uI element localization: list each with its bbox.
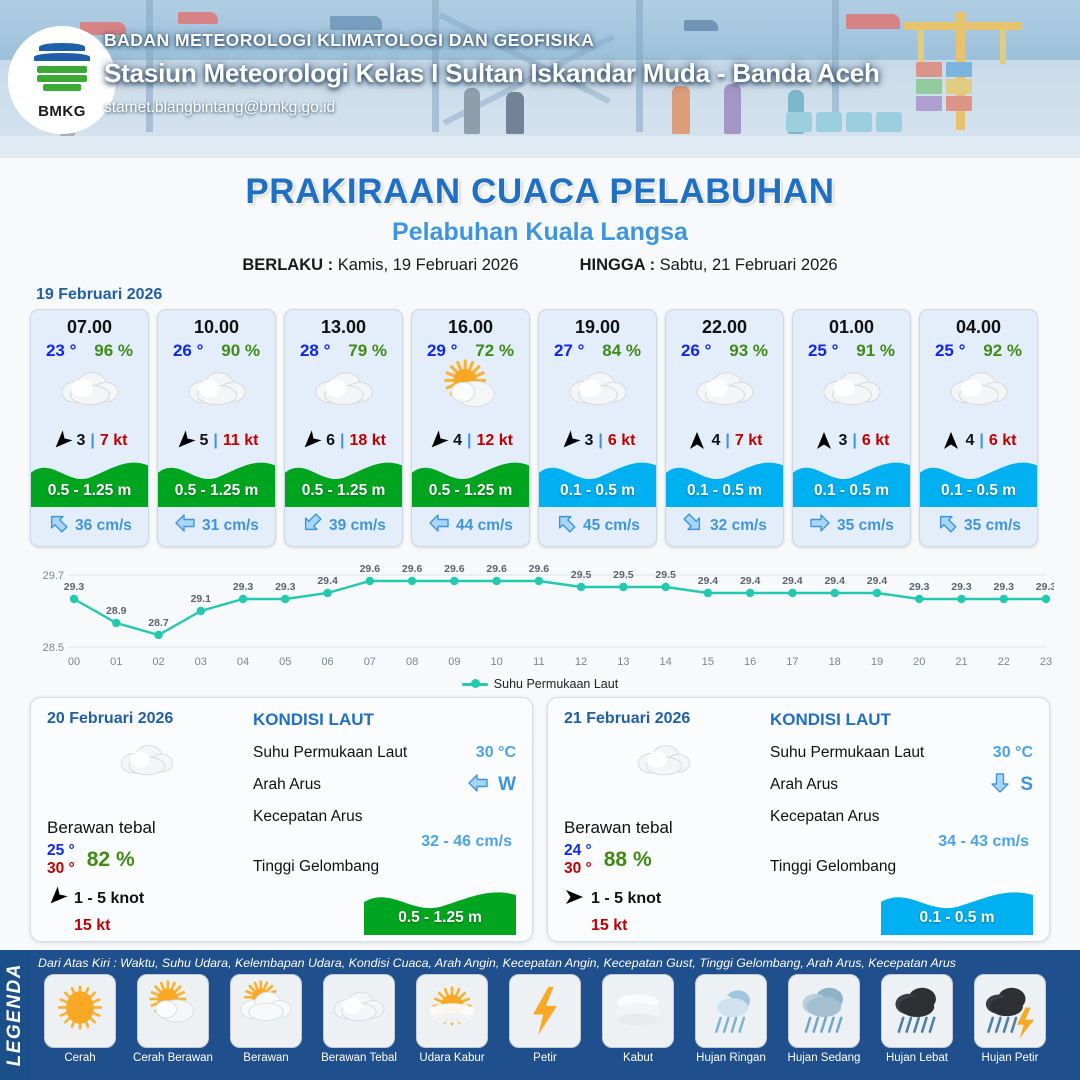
svg-text:12: 12: [575, 656, 587, 668]
current-speed-value: 34 - 43 cm/s: [770, 833, 1033, 851]
bmkg-logo-text: BMKG: [38, 103, 86, 120]
wave-height: 0.1 - 0.5 m: [539, 482, 656, 500]
page-subtitle: Pelabuhan Kuala Langsa: [0, 218, 1080, 247]
svg-text:16: 16: [744, 656, 756, 668]
card-temp-humidity-row: 27 ° 84 %: [539, 339, 656, 361]
wind-gust: 7 kt: [735, 432, 763, 450]
card-humidity: 91 %: [856, 341, 895, 361]
legend-item: Petir: [501, 974, 589, 1064]
card-temp-humidity-row: 25 ° 91 %: [793, 339, 910, 361]
card-current-row: 35 cm/s: [920, 507, 1037, 546]
current-speed: 35 cm/s: [837, 517, 894, 535]
legend-side-text: LEGENDA: [4, 963, 26, 1066]
card-temp-humidity-row: 29 ° 72 %: [412, 339, 529, 361]
current-direction-arrow-icon: [989, 772, 1011, 799]
svg-text:08: 08: [406, 656, 418, 668]
legend-icon-cerah: [44, 974, 116, 1048]
svg-text:29.3: 29.3: [64, 581, 85, 593]
svg-text:19: 19: [871, 656, 883, 668]
svg-text:22: 22: [998, 656, 1010, 668]
svg-text:28.7: 28.7: [148, 617, 169, 629]
weather-icon-cerah-berawan: [412, 363, 529, 425]
forecast-card: 13.00 28 ° 79 % 6 | 18 kt 0.5 - 1.25 m 3…: [284, 309, 403, 547]
summary-sea-conditions: KONDISI LAUT Suhu Permukaan Laut 30 °C A…: [764, 710, 1033, 927]
wave-height-label: Tinggi Gelombang: [253, 858, 379, 876]
card-temp-humidity-row: 26 ° 93 %: [666, 339, 783, 361]
summary-condition: Berawan tebal: [47, 818, 247, 838]
weather-icon-berawan-tebal: [564, 734, 764, 796]
wind-gust: 7 kt: [100, 432, 128, 450]
wind-gust: 18 kt: [349, 432, 385, 450]
contact-email: stamet.blangbintang@bmkg.go.id: [104, 99, 880, 117]
forecast-card: 07.00 23 ° 96 % 3 | 7 kt 0.5 - 1.25 m 36…: [30, 309, 149, 547]
wind-speed: 4: [453, 432, 462, 450]
weather-icon-berawan-tebal: [31, 363, 148, 425]
legend-item-label: Berawan Tebal: [321, 1052, 397, 1064]
current-direction-row: Arah Arus W: [253, 769, 516, 801]
current-speed: 44 cm/s: [456, 517, 513, 535]
daily-summary-panels: 20 Februari 2026 Berawan tebal 25 ° 30 °…: [0, 691, 1080, 942]
current-direction-arrow-icon: [428, 512, 450, 539]
sst-label: Suhu Permukaan Laut: [253, 744, 407, 762]
wind-direction-arrow-icon: [47, 887, 67, 912]
sst-row: Suhu Permukaan Laut 30 °C: [253, 737, 516, 769]
chart-legend: Suhu Permukaan Laut: [0, 677, 1080, 691]
sea-conditions-header: KONDISI LAUT: [253, 710, 516, 730]
organization-name: BADAN METEOROLOGI KLIMATOLOGI DAN GEOFIS…: [104, 30, 880, 51]
svg-text:15: 15: [702, 656, 714, 668]
legend-icon-hujan-sedang: [788, 974, 860, 1048]
summary-sea-conditions: KONDISI LAUT Suhu Permukaan Laut 30 °C A…: [247, 710, 516, 927]
weather-icon-berawan-tebal: [539, 363, 656, 425]
summary-condition: Berawan tebal: [564, 818, 764, 838]
svg-text:17: 17: [786, 656, 798, 668]
card-current-row: 36 cm/s: [31, 507, 148, 546]
wave-height-row: Tinggi Gelombang: [253, 851, 516, 883]
svg-text:06: 06: [321, 656, 333, 668]
current-direction-value: S: [989, 772, 1033, 799]
current-direction-arrow-icon: [682, 512, 704, 539]
page-title: PRAKIRAAN CUACA PELABUHAN: [0, 172, 1080, 212]
wind-direction-arrow-icon: [301, 431, 321, 451]
card-time: 16.00: [412, 310, 529, 339]
wind-direction-arrow-icon: [52, 431, 72, 451]
forecast-card: 19.00 27 ° 84 % 3 | 6 kt 0.1 - 0.5 m 45 …: [538, 309, 657, 547]
card-humidity: 96 %: [94, 341, 133, 361]
card-current-row: 35 cm/s: [793, 507, 910, 546]
card-current-row: 44 cm/s: [412, 507, 529, 546]
forecast-card: 10.00 26 ° 90 % 5 | 11 kt 0.5 - 1.25 m 3…: [157, 309, 276, 547]
valid-until-label: HINGGA :: [580, 256, 655, 274]
legend-icon-berawan-tebal: [323, 974, 395, 1048]
summary-wave-band: 0.1 - 0.5 m: [881, 885, 1033, 935]
svg-text:29.4: 29.4: [824, 575, 845, 587]
card-temperature: 28 °: [300, 341, 330, 361]
svg-text:29.6: 29.6: [402, 563, 423, 575]
current-direction-row: Arah Arus S: [770, 769, 1033, 801]
legend-icon-kabut: [602, 974, 674, 1048]
svg-text:28.9: 28.9: [106, 605, 127, 617]
svg-text:29.6: 29.6: [486, 563, 507, 575]
summary-temperature-block: 25 ° 30 ° 82 %: [47, 842, 247, 878]
summary-date: 20 Februari 2026: [47, 710, 247, 728]
forecast-day-label: 19 Februari 2026: [36, 286, 1080, 304]
wind-separator: |: [598, 432, 602, 450]
svg-text:29.5: 29.5: [613, 569, 634, 581]
wind-separator: |: [467, 432, 471, 450]
wind-direction-arrow-icon: [560, 431, 580, 451]
wind-speed: 3: [839, 432, 848, 450]
weather-icon-berawan-tebal: [285, 363, 402, 425]
card-time: 04.00: [920, 310, 1037, 339]
svg-text:29.4: 29.4: [867, 575, 888, 587]
card-wind-row: 3 | 7 kt: [31, 425, 148, 455]
svg-text:01: 01: [110, 656, 122, 668]
svg-text:07: 07: [364, 656, 376, 668]
svg-text:02: 02: [152, 656, 164, 668]
svg-text:29.6: 29.6: [444, 563, 465, 575]
card-temp-humidity-row: 23 ° 96 %: [31, 339, 148, 361]
svg-text:10: 10: [490, 656, 502, 668]
summary-wind-row: 1 - 5 knot: [564, 887, 764, 912]
card-humidity: 84 %: [602, 341, 641, 361]
wind-speed: 4: [966, 432, 975, 450]
current-speed: 32 cm/s: [710, 517, 767, 535]
legend-item-label: Petir: [533, 1052, 557, 1064]
svg-text:03: 03: [195, 656, 207, 668]
forecast-card: 16.00 29 ° 72 % 4 | 12 kt 0.5 - 1.25 m 4…: [411, 309, 530, 547]
current-direction-arrow-icon: [936, 512, 958, 539]
current-direction-label: Arah Arus: [770, 776, 838, 794]
title-block: PRAKIRAAN CUACA PELABUHAN Pelabuhan Kual…: [0, 158, 1080, 275]
legend-item-list: Cerah Cerah Berawan Berawan Berawan Teba…: [36, 974, 1074, 1064]
current-speed-label: Kecepatan Arus: [253, 808, 362, 826]
forecast-card-strip: 07.00 23 ° 96 % 3 | 7 kt 0.5 - 1.25 m 36…: [0, 309, 1080, 547]
legend-icon-hujan-lebat: [881, 974, 953, 1048]
legend-icon-berawan: [230, 974, 302, 1048]
card-temperature: 26 °: [681, 341, 711, 361]
current-speed-value: 32 - 46 cm/s: [253, 833, 516, 851]
summary-left: 20 Februari 2026 Berawan tebal 25 ° 30 °…: [47, 710, 247, 927]
card-time: 19.00: [539, 310, 656, 339]
legend-item-label: Hujan Sedang: [788, 1052, 861, 1064]
sst-value: 30 °C: [476, 744, 516, 762]
current-speed: 36 cm/s: [75, 517, 132, 535]
summary-wind-row: 1 - 5 knot: [47, 887, 247, 912]
legend-note: Dari Atas Kiri : Waktu, Suhu Udara, Kele…: [36, 954, 1074, 974]
wind-gust: 6 kt: [989, 432, 1017, 450]
card-wind-row: 3 | 6 kt: [793, 425, 910, 455]
current-speed: 39 cm/s: [329, 517, 386, 535]
card-wave-band: 0.1 - 0.5 m: [793, 455, 910, 507]
card-wave-band: 0.5 - 1.25 m: [31, 455, 148, 507]
svg-text:29.6: 29.6: [360, 563, 381, 575]
summary-temperature-block: 24 ° 30 ° 88 %: [564, 842, 764, 878]
sst-label: Suhu Permukaan Laut: [770, 744, 924, 762]
svg-text:14: 14: [660, 656, 672, 668]
summary-temp-max: 30 °: [564, 860, 592, 878]
wind-separator: |: [213, 432, 217, 450]
summary-left: 21 Februari 2026 Berawan tebal 24 ° 30 °…: [564, 710, 764, 927]
summary-wind-range: 1 - 5 knot: [591, 890, 661, 908]
current-direction-arrow-icon: [301, 512, 323, 539]
card-wind-row: 4 | 7 kt: [666, 425, 783, 455]
legend-item: Hujan Ringan: [687, 974, 775, 1064]
svg-text:29.3: 29.3: [994, 581, 1015, 593]
card-wave-band: 0.5 - 1.25 m: [285, 455, 402, 507]
card-wave-band: 0.1 - 0.5 m: [920, 455, 1037, 507]
sst-chart: 29.728.529.328.928.729.129.329.329.429.6…: [26, 561, 1054, 673]
card-humidity: 79 %: [348, 341, 387, 361]
svg-text:29.5: 29.5: [655, 569, 676, 581]
card-wind-row: 5 | 11 kt: [158, 425, 275, 455]
legend-item-label: Cerah Berawan: [133, 1052, 213, 1064]
wind-separator: |: [852, 432, 856, 450]
card-time: 07.00: [31, 310, 148, 339]
legend-item: Hujan Petir: [966, 974, 1054, 1064]
wind-direction-arrow-icon: [814, 431, 834, 451]
current-speed-row: Kecepatan Arus: [253, 801, 516, 833]
card-humidity: 72 %: [475, 341, 514, 361]
summary-temp-min: 25 °: [47, 842, 75, 860]
valid-until-value: Sabtu, 21 Februari 2026: [660, 256, 838, 274]
svg-text:18: 18: [829, 656, 841, 668]
summary-humidity: 88 %: [604, 848, 652, 872]
summary-wave-value: 0.1 - 0.5 m: [881, 909, 1033, 927]
svg-text:29.3: 29.3: [909, 581, 930, 593]
current-speed: 45 cm/s: [583, 517, 640, 535]
wind-speed: 5: [200, 432, 209, 450]
card-wave-band: 0.5 - 1.25 m: [158, 455, 275, 507]
legend-side-label: LEGENDA: [0, 950, 30, 1080]
current-direction-label: Arah Arus: [253, 776, 321, 794]
wind-direction-arrow-icon: [175, 431, 195, 451]
card-time: 10.00: [158, 310, 275, 339]
card-humidity: 93 %: [729, 341, 768, 361]
legend-body: Dari Atas Kiri : Waktu, Suhu Udara, Kele…: [30, 950, 1080, 1080]
wave-height: 0.5 - 1.25 m: [31, 482, 148, 500]
card-humidity: 92 %: [983, 341, 1022, 361]
svg-text:29.5: 29.5: [571, 569, 592, 581]
legend-item: Berawan: [222, 974, 310, 1064]
daily-summary-card: 20 Februari 2026 Berawan tebal 25 ° 30 °…: [30, 697, 533, 942]
wave-height: 0.1 - 0.5 m: [920, 482, 1037, 500]
legend-icon-hujan-ringan: [695, 974, 767, 1048]
card-current-row: 32 cm/s: [666, 507, 783, 546]
header-text-block: BADAN METEOROLOGI KLIMATOLOGI DAN GEOFIS…: [104, 30, 880, 117]
card-temp-humidity-row: 25 ° 92 %: [920, 339, 1037, 361]
summary-humidity: 82 %: [87, 848, 135, 872]
sea-conditions-header: KONDISI LAUT: [770, 710, 1033, 730]
current-direction-letter: W: [498, 774, 516, 796]
legend-item-label: Udara Kabur: [419, 1052, 484, 1064]
svg-text:29.3: 29.3: [233, 581, 254, 593]
svg-text:29.1: 29.1: [191, 593, 212, 605]
svg-text:11: 11: [533, 656, 544, 668]
wind-gust: 11 kt: [223, 432, 259, 450]
daily-summary-card: 21 Februari 2026 Berawan tebal 24 ° 30 °…: [547, 697, 1050, 942]
card-temperature: 29 °: [427, 341, 457, 361]
current-speed-label: Kecepatan Arus: [770, 808, 879, 826]
summary-temp-range: 24 ° 30 °: [564, 842, 592, 878]
forecast-card: 22.00 26 ° 93 % 4 | 7 kt 0.1 - 0.5 m 32 …: [665, 309, 784, 547]
svg-text:29.4: 29.4: [740, 575, 761, 587]
svg-text:09: 09: [448, 656, 460, 668]
wave-height: 0.1 - 0.5 m: [666, 482, 783, 500]
legend-item-label: Cerah: [64, 1052, 95, 1064]
bmkg-logo-mark: [31, 41, 93, 101]
card-current-row: 45 cm/s: [539, 507, 656, 546]
weather-icon-berawan-tebal: [47, 734, 247, 796]
wind-direction-arrow-icon: [428, 431, 448, 451]
svg-text:21: 21: [955, 656, 967, 668]
legend-item-label: Hujan Lebat: [886, 1052, 948, 1064]
svg-text:05: 05: [279, 656, 291, 668]
card-temp-humidity-row: 28 ° 79 %: [285, 339, 402, 361]
wind-speed: 6: [326, 432, 335, 450]
wind-speed: 4: [712, 432, 721, 450]
wind-separator: |: [90, 432, 94, 450]
card-current-row: 31 cm/s: [158, 507, 275, 546]
wind-separator: |: [979, 432, 983, 450]
wind-gust: 6 kt: [862, 432, 890, 450]
summary-temp-max: 30 °: [47, 860, 75, 878]
card-temp-humidity-row: 26 ° 90 %: [158, 339, 275, 361]
wind-direction-arrow-icon: [564, 887, 584, 912]
wind-separator: |: [340, 432, 344, 450]
card-time: 22.00: [666, 310, 783, 339]
valid-from-label: BERLAKU :: [242, 256, 333, 274]
header-banner: BMKG BADAN METEOROLOGI KLIMATOLOGI DAN G…: [0, 0, 1080, 158]
current-direction-value: W: [467, 772, 516, 799]
card-current-row: 39 cm/s: [285, 507, 402, 546]
current-direction-arrow-icon: [174, 512, 196, 539]
summary-wind-range: 1 - 5 knot: [74, 890, 144, 908]
current-speed: 31 cm/s: [202, 517, 259, 535]
current-direction-arrow-icon: [47, 512, 69, 539]
sst-value: 30 °C: [993, 744, 1033, 762]
current-direction-arrow-icon: [555, 512, 577, 539]
wind-direction-arrow-icon: [941, 431, 961, 451]
forecast-card: 01.00 25 ° 91 % 3 | 6 kt 0.1 - 0.5 m 35 …: [792, 309, 911, 547]
forecast-card: 04.00 25 ° 92 % 4 | 6 kt 0.1 - 0.5 m 35 …: [919, 309, 1038, 547]
sst-chart-svg: 29.728.529.328.928.729.129.329.329.429.6…: [26, 561, 1054, 673]
weather-icon-berawan-tebal: [666, 363, 783, 425]
svg-text:04: 04: [237, 656, 249, 668]
sst-row: Suhu Permukaan Laut 30 °C: [770, 737, 1033, 769]
card-wind-row: 4 | 6 kt: [920, 425, 1037, 455]
legend-icon-udara-kabur: [416, 974, 488, 1048]
legend-item: Berawan Tebal: [315, 974, 403, 1064]
wave-height: 0.5 - 1.25 m: [158, 482, 275, 500]
current-direction-arrow-icon: [809, 512, 831, 539]
valid-from-value: Kamis, 19 Februari 2026: [338, 256, 519, 274]
chart-legend-label: Suhu Permukaan Laut: [494, 677, 618, 691]
card-wave-band: 0.1 - 0.5 m: [666, 455, 783, 507]
svg-text:00: 00: [68, 656, 80, 668]
svg-text:29.7: 29.7: [43, 570, 64, 582]
card-time: 13.00: [285, 310, 402, 339]
legend-item: Kabut: [594, 974, 682, 1064]
legend-item: Udara Kabur: [408, 974, 496, 1064]
current-speed-row: Kecepatan Arus: [770, 801, 1033, 833]
card-temperature: 25 °: [808, 341, 838, 361]
svg-text:29.4: 29.4: [782, 575, 803, 587]
bmkg-logo: BMKG: [8, 26, 116, 134]
legend-item: Hujan Lebat: [873, 974, 961, 1064]
chart-legend-marker-icon: [462, 683, 488, 686]
summary-temp-range: 25 ° 30 °: [47, 842, 75, 878]
summary-gust: 15 kt: [591, 917, 764, 935]
card-temperature: 27 °: [554, 341, 584, 361]
wave-height: 0.5 - 1.25 m: [285, 482, 402, 500]
wind-direction-arrow-icon: [687, 431, 707, 451]
legend-bar: LEGENDA Dari Atas Kiri : Waktu, Suhu Uda…: [0, 950, 1080, 1080]
card-temperature: 23 °: [46, 341, 76, 361]
wind-separator: |: [725, 432, 729, 450]
current-direction-letter: S: [1020, 774, 1033, 796]
svg-text:29.4: 29.4: [698, 575, 719, 587]
validity-row: BERLAKU : Kamis, 19 Februari 2026 HINGGA…: [0, 256, 1080, 275]
legend-item-label: Hujan Petir: [982, 1052, 1039, 1064]
svg-text:20: 20: [913, 656, 925, 668]
legend-item-label: Berawan: [243, 1052, 288, 1064]
card-wave-band: 0.1 - 0.5 m: [539, 455, 656, 507]
card-humidity: 90 %: [221, 341, 260, 361]
weather-icon-berawan-tebal: [793, 363, 910, 425]
legend-item-label: Kabut: [623, 1052, 653, 1064]
weather-icon-berawan-tebal: [158, 363, 275, 425]
legend-icon-petir: [509, 974, 581, 1048]
legend-icon-hujan-petir: [974, 974, 1046, 1048]
legend-item-label: Hujan Ringan: [696, 1052, 766, 1064]
wave-height-label: Tinggi Gelombang: [770, 858, 896, 876]
card-temperature: 26 °: [173, 341, 203, 361]
card-wind-row: 4 | 12 kt: [412, 425, 529, 455]
wind-gust: 6 kt: [608, 432, 636, 450]
weather-icon-berawan-tebal: [920, 363, 1037, 425]
svg-text:29.3: 29.3: [275, 581, 296, 593]
svg-text:29.3: 29.3: [951, 581, 972, 593]
card-wave-band: 0.5 - 1.25 m: [412, 455, 529, 507]
legend-item: Cerah: [36, 974, 124, 1064]
current-speed: 35 cm/s: [964, 517, 1021, 535]
summary-gust: 15 kt: [74, 917, 247, 935]
wave-height: 0.5 - 1.25 m: [412, 482, 529, 500]
legend-item: Hujan Sedang: [780, 974, 868, 1064]
wind-speed: 3: [585, 432, 594, 450]
svg-text:13: 13: [617, 656, 629, 668]
svg-text:29.4: 29.4: [317, 575, 338, 587]
card-time: 01.00: [793, 310, 910, 339]
wind-gust: 12 kt: [476, 432, 512, 450]
card-wind-row: 6 | 18 kt: [285, 425, 402, 455]
wind-speed: 3: [77, 432, 86, 450]
summary-wave-value: 0.5 - 1.25 m: [364, 909, 516, 927]
svg-text:29.3: 29.3: [1036, 581, 1054, 593]
legend-item: Cerah Berawan: [129, 974, 217, 1064]
svg-text:23: 23: [1040, 656, 1052, 668]
svg-text:29.6: 29.6: [529, 563, 550, 575]
card-temperature: 25 °: [935, 341, 965, 361]
card-wind-row: 3 | 6 kt: [539, 425, 656, 455]
wave-height: 0.1 - 0.5 m: [793, 482, 910, 500]
station-name: Stasiun Meteorologi Kelas I Sultan Iskan…: [104, 58, 880, 89]
summary-wave-band: 0.5 - 1.25 m: [364, 885, 516, 935]
summary-temp-min: 24 °: [564, 842, 592, 860]
wave-height-row: Tinggi Gelombang: [770, 851, 1033, 883]
current-direction-arrow-icon: [467, 772, 489, 799]
